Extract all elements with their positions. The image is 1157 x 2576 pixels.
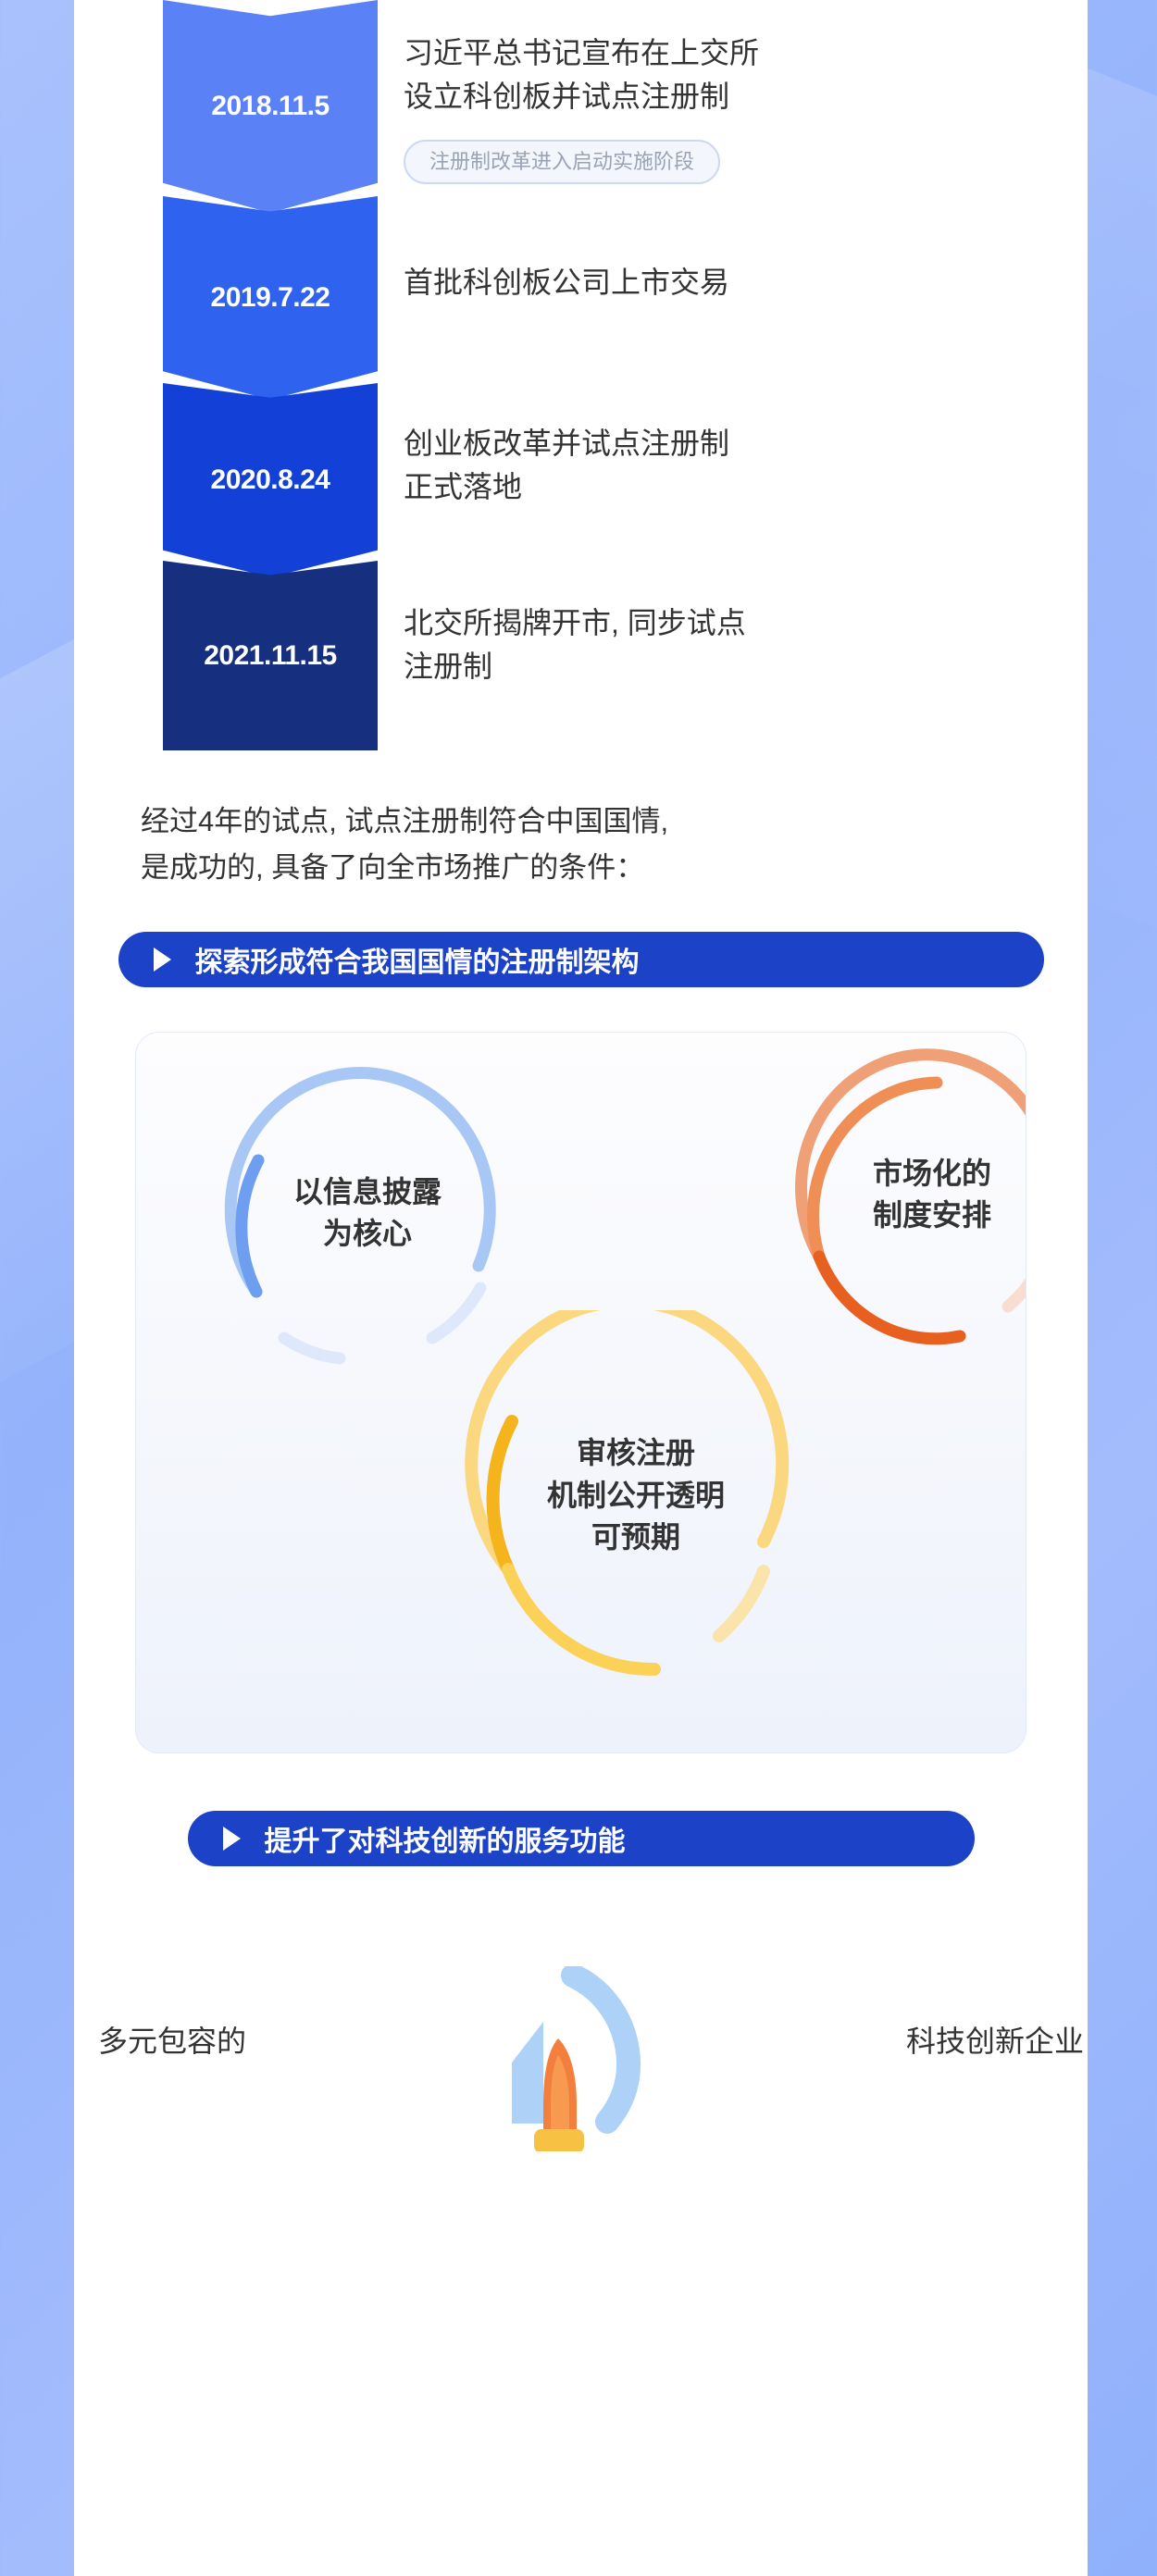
section-banner-label: 提升了对科技创新的服务功能 — [265, 1818, 626, 1859]
timeline-title: 创业板改革并试点注册制 正式落地 — [404, 422, 1088, 510]
timeline-item: 2020.8.24 创业板改革并试点注册制 正式落地 — [74, 383, 1088, 577]
ring-line-1: 市场化的 — [873, 1153, 991, 1195]
timeline-date: 2018.11.5 — [211, 91, 329, 122]
ring-text: 审核注册 机制公开透明 可预期 — [547, 1432, 725, 1558]
summary-line-1: 经过4年的试点, 试点注册制符合中国国情, — [141, 799, 1021, 845]
timeline-date: 2021.11.15 — [204, 640, 337, 672]
tech-innovation-row: 多元包容的 科技创新企业 — [74, 1918, 1088, 2103]
ring-line-1: 以信息披露 — [293, 1171, 442, 1213]
summary-line-2: 是成功的, 具备了向全市场推广的条件： — [141, 845, 1021, 891]
timeline-title: 北交所揭牌开市, 同步试点 注册制 — [404, 601, 1088, 689]
timeline-content: 北交所揭牌开市, 同步试点 注册制 — [378, 561, 1088, 689]
ring-line-3: 可预期 — [547, 1517, 725, 1558]
summary-paragraph: 经过4年的试点, 试点注册制符合中国国情, 是成功的, 具备了向全市场推广的条件… — [141, 799, 1021, 891]
timeline-item: 2019.7.22 首批科创板公司上市交易 — [74, 196, 1088, 400]
timeline-content: 创业板改革并试点注册制 正式落地 — [378, 383, 1088, 510]
timeline-item: 2021.11.15 北交所揭牌开市, 同步试点 注册制 — [74, 561, 1088, 750]
timeline-date-chevron: 2018.11.5 — [163, 0, 378, 213]
bottom-left-label: 多元包容的 — [98, 2018, 246, 2061]
timeline-title: 首批科创板公司上市交易 — [404, 261, 1088, 304]
timeline-title-text: 首批科创板公司上市交易 — [404, 266, 729, 299]
principles-card: 以信息披露 为核心 市场化的 制度安排 — [135, 1032, 1026, 1753]
play-triangle-icon — [223, 1827, 241, 1851]
timeline-item: 2018.11.5 习近平总书记宣布在上交所 设立科创板并试点注册制 注册制改革… — [74, 0, 1088, 213]
transparent-review-ring: 审核注册 机制公开透明 可预期 — [442, 1310, 830, 1680]
play-triangle-icon — [154, 947, 171, 972]
ring-text: 以信息披露 为核心 — [293, 1171, 442, 1256]
ring-line-2: 机制公开透明 — [547, 1475, 725, 1517]
timeline-content: 首批科创板公司上市交易 — [378, 196, 1088, 304]
timeline-date: 2020.8.24 — [211, 464, 330, 496]
market-based-arrangement-ring: 市场化的 制度安排 — [775, 1042, 1026, 1347]
ring-line-1: 审核注册 — [547, 1432, 725, 1474]
timeline-title: 习近平总书记宣布在上交所 设立科创板并试点注册制 — [404, 31, 1088, 119]
bottom-right-label: 科技创新企业 — [906, 2018, 1084, 2061]
rocket-icon — [454, 1966, 667, 2151]
timeline-date: 2019.7.22 — [211, 282, 330, 314]
timeline-title-text: 创业板改革并试点注册制 正式落地 — [404, 427, 729, 503]
timeline-date-chevron: 2020.8.24 — [163, 383, 378, 577]
article-page: 2018.11.5 习近平总书记宣布在上交所 设立科创板并试点注册制 注册制改革… — [74, 0, 1088, 2576]
timeline-pill-badge: 注册制改革进入启动实施阶段 — [404, 140, 720, 184]
ring-line-2: 制度安排 — [873, 1195, 991, 1236]
section-banner-service[interactable]: 提升了对科技创新的服务功能 — [188, 1811, 975, 1866]
section-banner-framework[interactable]: 探索形成符合我国国情的注册制架构 — [118, 932, 1044, 987]
ring-line-2: 为核心 — [293, 1213, 442, 1255]
timeline-title-text: 北交所揭牌开市, 同步试点 注册制 — [404, 606, 746, 683]
timeline-date-chevron: 2021.11.15 — [163, 561, 378, 750]
timeline-content: 习近平总书记宣布在上交所 设立科创板并试点注册制 注册制改革进入启动实施阶段 — [378, 0, 1088, 184]
registration-reform-timeline: 2018.11.5 习近平总书记宣布在上交所 设立科创板并试点注册制 注册制改革… — [74, 0, 1088, 750]
timeline-date-chevron: 2019.7.22 — [163, 196, 378, 400]
ring-text: 市场化的 制度安排 — [873, 1153, 991, 1237]
timeline-title-text: 习近平总书记宣布在上交所 设立科创板并试点注册制 — [404, 36, 759, 113]
section-banner-label: 探索形成符合我国国情的注册制架构 — [195, 939, 640, 980]
